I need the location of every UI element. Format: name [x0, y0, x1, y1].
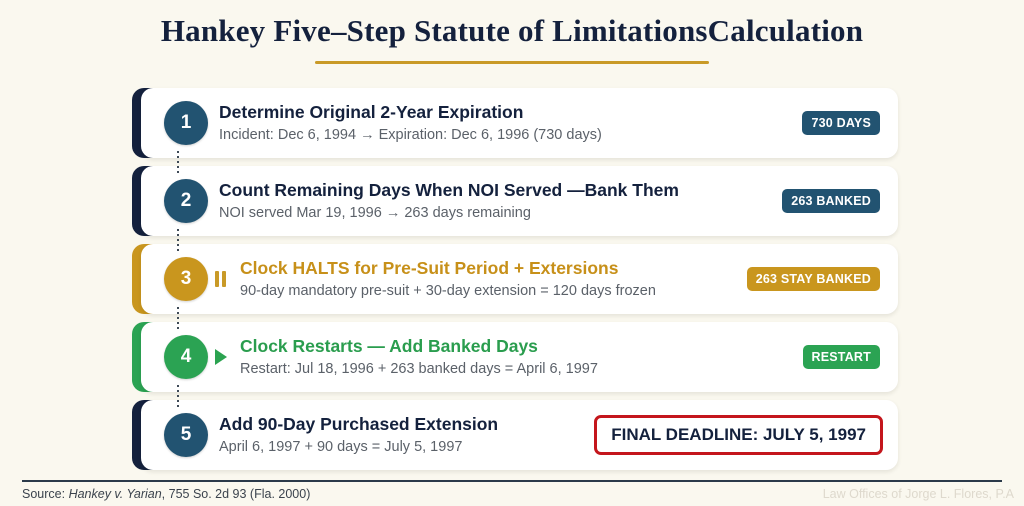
step-text-block: Count Remaining Days When NOI Served —Ba… — [219, 180, 782, 223]
step-card[interactable]: 3Clock HALTS for Pre-Suit Period + Exter… — [141, 244, 898, 314]
step-number-badge: 2 — [164, 179, 208, 223]
step-number-badge: 4 — [164, 335, 208, 379]
steps-list: 1Determine Original 2-Year ExpirationInc… — [132, 88, 898, 478]
step-card[interactable]: 5Add 90-Day Purchased ExtensionApril 6, … — [141, 400, 898, 470]
footer-source-prefix: Source: — [22, 487, 69, 501]
footer-source: Source: Hankey v. Yarian, 755 So. 2d 93 … — [22, 487, 310, 501]
title-underline — [315, 61, 709, 64]
step-card[interactable]: 4Clock Restarts — Add Banked DaysRestart… — [141, 322, 898, 392]
step-title: Count Remaining Days When NOI Served —Ba… — [219, 180, 782, 202]
play-icon — [213, 348, 229, 366]
step-number-badge: 1 — [164, 101, 208, 145]
step-text-block: Determine Original 2-Year ExpirationInci… — [219, 102, 802, 145]
step-subtitle: NOI served Mar 19, 1996 → 263 days remai… — [219, 204, 782, 223]
step-number-badge: 5 — [164, 413, 208, 457]
step-connector-line — [177, 229, 179, 251]
step-status-badge: RESTART — [803, 345, 881, 369]
step-connector-line — [177, 385, 179, 407]
step-row[interactable]: 4Clock Restarts — Add Banked DaysRestart… — [132, 322, 898, 392]
page-title: Hankey Five–Step Statute of LimitationsC… — [0, 12, 1024, 49]
step-card[interactable]: 1Determine Original 2-Year ExpirationInc… — [141, 88, 898, 158]
step-row[interactable]: 2Count Remaining Days When NOI Served —B… — [132, 166, 898, 236]
final-deadline-box: FINAL DEADLINE: JULY 5, 1997 — [594, 415, 883, 455]
step-text-block: Clock Restarts — Add Banked DaysRestart:… — [240, 336, 803, 379]
step-status-badge: 263 BANKED — [782, 189, 880, 213]
step-status-badge: 730 DAYS — [802, 111, 880, 135]
step-subtitle: April 6, 1997 + 90 days = July 5, 1997 — [219, 438, 594, 457]
step-title: Determine Original 2-Year Expiration — [219, 102, 802, 124]
step-connector-line — [177, 151, 179, 173]
step-title: Clock Restarts — Add Banked Days — [240, 336, 803, 358]
step-row[interactable]: 3Clock HALTS for Pre-Suit Period + Exter… — [132, 244, 898, 314]
step-subtitle: Restart: Jul 18, 1996 + 263 banked days … — [240, 360, 803, 379]
step-text-block: Clock HALTS for Pre-Suit Period + Exters… — [240, 258, 747, 301]
step-row[interactable]: 5Add 90-Day Purchased ExtensionApril 6, … — [132, 400, 898, 470]
step-title: Add 90-Day Purchased Extension — [219, 414, 594, 436]
header: Hankey Five–Step Statute of LimitationsC… — [0, 0, 1024, 64]
step-subtitle: Incident: Dec 6, 1994 → Expiration: Dec … — [219, 126, 802, 145]
step-row[interactable]: 1Determine Original 2-Year ExpirationInc… — [132, 88, 898, 158]
step-text-block: Add 90-Day Purchased ExtensionApril 6, 1… — [219, 414, 594, 457]
footer: Source: Hankey v. Yarian, 755 So. 2d 93 … — [22, 487, 1014, 501]
pause-icon — [213, 270, 229, 288]
step-title: Clock HALTS for Pre-Suit Period + Exters… — [240, 258, 747, 280]
footer-firm: Law Offices of Jorge L. Flores, P.A — [823, 487, 1014, 501]
step-connector-line — [177, 307, 179, 329]
step-subtitle: 90-day mandatory pre-suit + 30-day exten… — [240, 282, 747, 301]
footer-source-case: Hankey v. Yarian — [69, 487, 162, 501]
step-card[interactable]: 2Count Remaining Days When NOI Served —B… — [141, 166, 898, 236]
step-status-badge: 263 STAY BANKED — [747, 267, 880, 291]
footer-source-suffix: , 755 So. 2d 93 (Fla. 2000) — [162, 487, 311, 501]
footer-divider — [22, 480, 1002, 482]
step-number-badge: 3 — [164, 257, 208, 301]
